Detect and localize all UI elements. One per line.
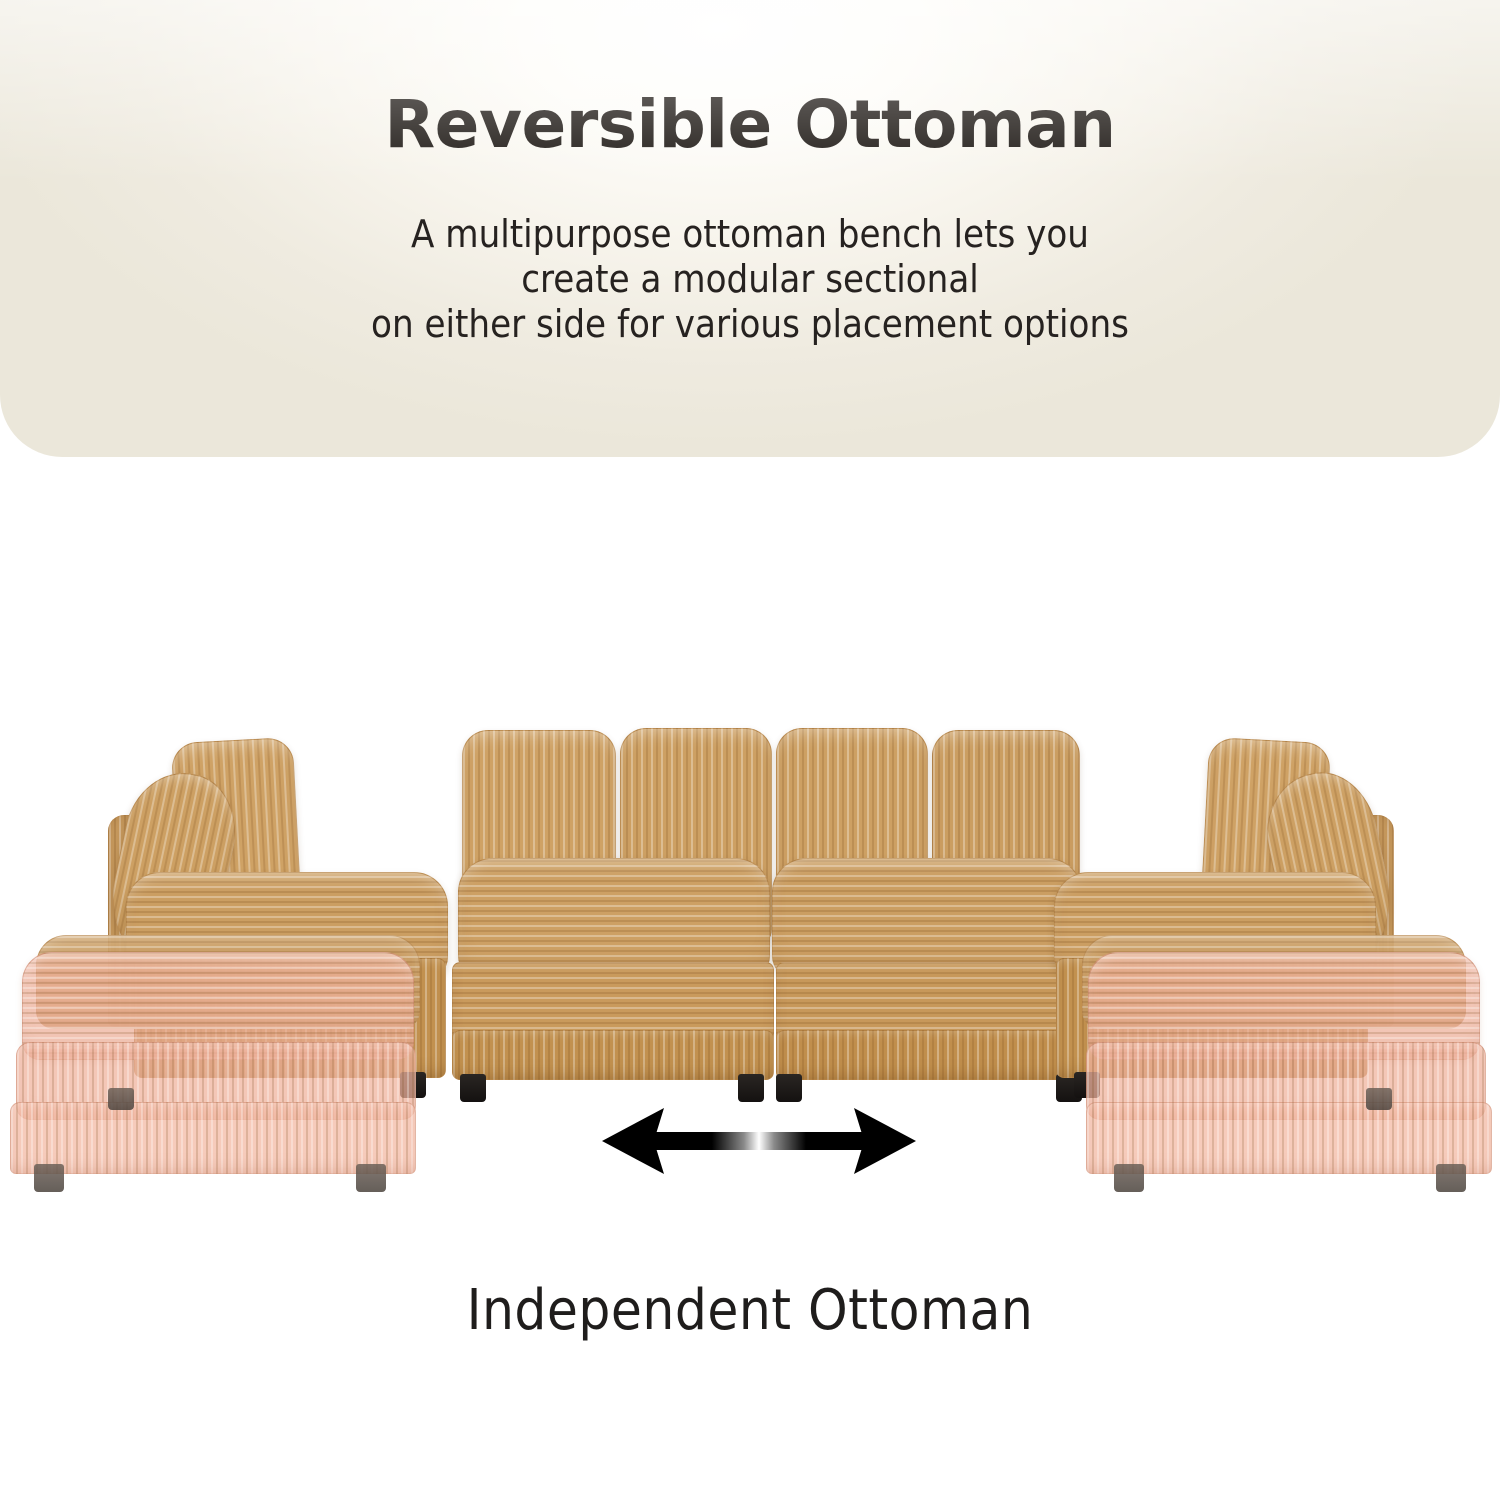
center-plinth-left	[452, 1030, 774, 1080]
center-seat-cushion-left	[458, 858, 770, 978]
left-ottoman-base	[10, 1102, 416, 1174]
left-ottoman-foot-left	[34, 1164, 64, 1192]
center-plinth-right	[776, 1030, 1088, 1080]
center-foot-1	[460, 1074, 486, 1102]
double-headed-horizontal-arrow	[600, 1098, 918, 1184]
right-ottoman-foot-right	[1436, 1164, 1466, 1192]
right-ottoman-foot-left	[1114, 1164, 1144, 1192]
right-ottoman-foot-back	[1366, 1088, 1392, 1110]
subtitle-line-3: on either side for various placement opt…	[0, 302, 1500, 347]
header-banner: Reversible Ottoman A multipurpose ottoma…	[0, 0, 1500, 457]
subtitle-block: A multipurpose ottoman bench lets you cr…	[0, 212, 1500, 347]
center-seat-cushion-right	[772, 858, 1082, 978]
right-ottoman-base	[1086, 1102, 1492, 1174]
page-title: Reversible Ottoman	[0, 86, 1500, 163]
product-caption: Independent Ottoman	[0, 1278, 1500, 1343]
subtitle-line-1: A multipurpose ottoman bench lets you	[0, 212, 1500, 257]
subtitle-line-2: create a modular sectional	[0, 257, 1500, 302]
left-ottoman-foot-back	[108, 1088, 134, 1110]
left-ottoman-foot-right	[356, 1164, 386, 1192]
